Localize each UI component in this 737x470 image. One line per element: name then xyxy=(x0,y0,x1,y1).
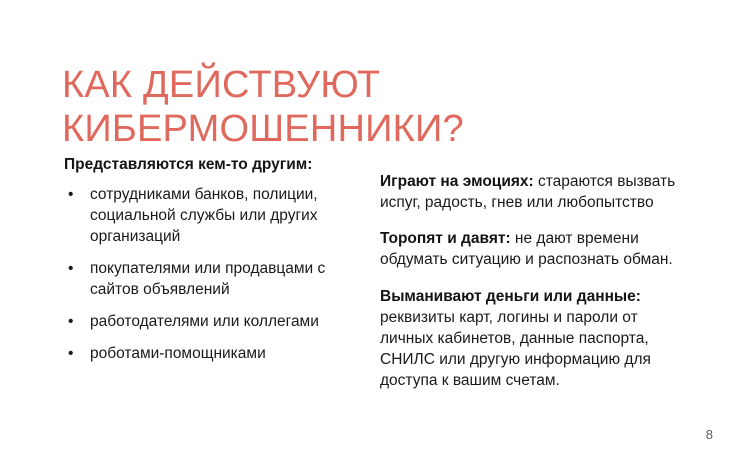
page-number: 8 xyxy=(706,427,713,442)
slide-body: Представляются кем-то другим: • сотрудни… xyxy=(0,155,737,410)
list-item: • работодателями или коллегами xyxy=(64,311,364,332)
list-item-label: работодателями или коллегами xyxy=(90,313,319,330)
right-column: Играют на эмоциях: стараются вызвать исп… xyxy=(380,155,686,391)
list-item: • покупателями или продавцами с сайтов о… xyxy=(64,258,364,300)
left-column: Представляются кем-то другим: • сотрудни… xyxy=(64,155,364,364)
list-item: • роботами-помощниками xyxy=(64,343,364,364)
list-item-label: роботами-помощниками xyxy=(90,345,266,362)
tactic-block-data-theft: Выманивают деньги или данные: реквизиты … xyxy=(380,286,686,391)
list-item: • сотрудниками банков, полиции, социальн… xyxy=(64,184,364,247)
bullet-dot-icon: • xyxy=(68,311,73,332)
bullet-dot-icon: • xyxy=(68,343,73,364)
slide: КАК ДЕЙСТВУЮТ КИБЕРМОШЕННИКИ? Представля… xyxy=(0,0,737,470)
left-column-heading: Представляются кем-то другим: xyxy=(64,155,364,175)
list-item-label: покупателями или продавцами с сайтов объ… xyxy=(90,260,325,298)
tactic-block-pressure: Торопят и давят: не дают времени обдумат… xyxy=(380,228,686,270)
page-title: КАК ДЕЙСТВУЮТ КИБЕРМОШЕННИКИ? xyxy=(62,63,682,151)
tactic-body-text: реквизиты карт, логины и пароли от личны… xyxy=(380,309,651,389)
tactic-lead-label: Выманивают деньги или данные: xyxy=(380,288,641,305)
tactic-block-emotions: Играют на эмоциях: стараются вызвать исп… xyxy=(380,171,686,213)
tactic-lead-label: Играют на эмоциях: xyxy=(380,173,534,190)
list-item-label: сотрудниками банков, полиции, социальной… xyxy=(90,186,318,245)
bullet-dot-icon: • xyxy=(68,258,73,279)
left-column-bullet-list: • сотрудниками банков, полиции, социальн… xyxy=(64,184,364,364)
tactic-lead-label: Торопят и давят: xyxy=(380,230,511,247)
bullet-dot-icon: • xyxy=(68,184,73,205)
